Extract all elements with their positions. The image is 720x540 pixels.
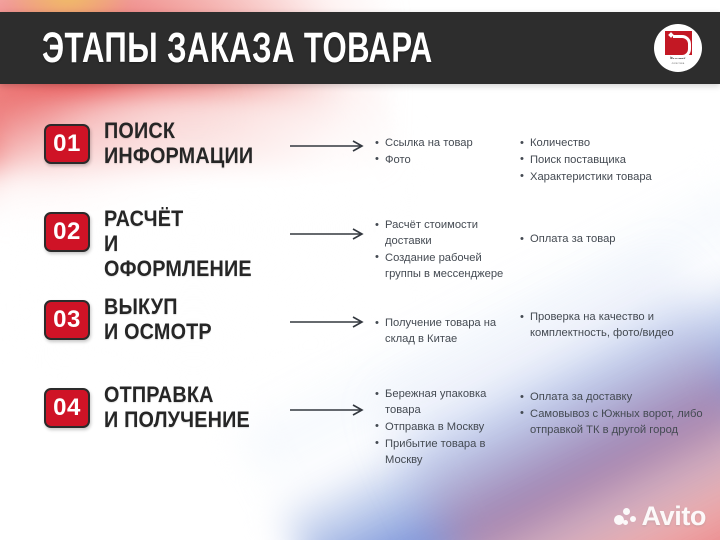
list-item: Количество bbox=[520, 136, 708, 152]
step-header: 04 ОТПРАВКА И ПОЛУЧЕНИЕ bbox=[0, 382, 280, 432]
brand-logo-icon bbox=[665, 31, 692, 55]
step-right-column: Оплата за товар bbox=[520, 206, 720, 249]
step-header: 02 РАСЧЁТ И ОФОРМЛЕНИЕ bbox=[0, 206, 280, 281]
step-row: 02 РАСЧЁТ И ОФОРМЛЕНИЕ Расчёт стоимости … bbox=[0, 206, 720, 294]
bullet-list: Бережная упаковка товара Отправка в Моск… bbox=[375, 387, 520, 469]
header-bar: ЭТАПЫ ЗАКАЗА ТОВАРА bertrade логистика bbox=[0, 12, 720, 84]
avito-dots-icon bbox=[614, 507, 637, 527]
bullet-list: Проверка на качество и комплектность, фо… bbox=[520, 310, 708, 342]
step-header: 03 ВЫКУП И ОСМОТР bbox=[0, 294, 280, 344]
bullet-list: Получение товара на склад в Китае bbox=[375, 316, 520, 348]
step-title: РАСЧЁТ И ОФОРМЛЕНИЕ bbox=[104, 206, 262, 281]
step-row: 04 ОТПРАВКА И ПОЛУЧЕНИЕ Бережная упаковк… bbox=[0, 382, 720, 470]
avito-watermark: Avito bbox=[614, 503, 707, 530]
step-connector bbox=[280, 294, 375, 328]
bullet-list: Расчёт стоимости доставки Создание рабоч… bbox=[375, 218, 520, 283]
page-title: ЭТАПЫ ЗАКАЗА ТОВАРА bbox=[42, 24, 433, 73]
step-middle-column: Получение товара на склад в Китае bbox=[375, 294, 520, 349]
steps-list: 01 ПОИСК ИНФОРМАЦИИ Ссылка на товар Фото… bbox=[0, 118, 720, 470]
arrow-right-icon bbox=[289, 228, 367, 240]
step-middle-column: Ссылка на товар Фото bbox=[375, 118, 520, 170]
arrow-right-icon bbox=[289, 404, 367, 416]
step-row: 03 ВЫКУП И ОСМОТР Получение товара на ск… bbox=[0, 294, 720, 382]
list-item: Оплата за товар bbox=[520, 232, 708, 248]
step-right-column: Проверка на качество и комплектность, фо… bbox=[520, 294, 720, 343]
step-number-badge: 04 bbox=[44, 388, 90, 428]
step-row: 01 ПОИСК ИНФОРМАЦИИ Ссылка на товар Фото… bbox=[0, 118, 720, 206]
step-right-column: Оплата за доставку Самовывоз с Южных вор… bbox=[520, 382, 720, 440]
list-item: Бережная упаковка товара bbox=[375, 387, 520, 419]
list-item: Оплата за доставку bbox=[520, 390, 708, 406]
step-header: 01 ПОИСК ИНФОРМАЦИИ bbox=[0, 118, 280, 168]
step-number-badge: 03 bbox=[44, 300, 90, 340]
step-middle-column: Расчёт стоимости доставки Создание рабоч… bbox=[375, 206, 520, 284]
list-item: Получение товара на склад в Китае bbox=[375, 316, 520, 348]
list-item: Фото bbox=[375, 153, 520, 169]
arrow-right-icon bbox=[289, 316, 367, 328]
step-number-badge: 02 bbox=[44, 212, 90, 252]
list-item: Поиск поставщика bbox=[520, 153, 708, 169]
list-item: Проверка на качество и комплектность, фо… bbox=[520, 310, 708, 342]
list-item: Ссылка на товар bbox=[375, 136, 520, 152]
step-number-badge: 01 bbox=[44, 124, 90, 164]
bullet-list: Ссылка на товар Фото bbox=[375, 136, 520, 169]
list-item: Самовывоз с Южных ворот, либо отправкой … bbox=[520, 407, 708, 439]
brand-logo-subtext: логистика bbox=[672, 62, 685, 65]
step-middle-column: Бережная упаковка товара Отправка в Моск… bbox=[375, 382, 520, 470]
arrow-right-icon bbox=[289, 140, 367, 152]
avito-wordmark: Avito bbox=[642, 503, 707, 530]
list-item: Прибытие товара в Москву bbox=[375, 437, 520, 469]
step-title: ПОИСК ИНФОРМАЦИИ bbox=[104, 118, 253, 168]
brand-logo: bertrade логистика bbox=[654, 24, 702, 72]
bullet-list: Оплата за доставку Самовывоз с Южных вор… bbox=[520, 390, 708, 439]
list-item: Расчёт стоимости доставки bbox=[375, 218, 520, 250]
step-connector bbox=[280, 206, 375, 240]
list-item: Отправка в Москву bbox=[375, 420, 520, 436]
step-connector bbox=[280, 382, 375, 416]
list-item: Характеристики товара bbox=[520, 170, 708, 186]
step-title: ОТПРАВКА И ПОЛУЧЕНИЕ bbox=[104, 382, 250, 432]
bullet-list: Оплата за товар bbox=[520, 232, 708, 248]
step-title: ВЫКУП И ОСМОТР bbox=[104, 294, 212, 344]
step-right-column: Количество Поиск поставщика Характеристи… bbox=[520, 118, 720, 187]
infographic-page: ЭТАПЫ ЗАКАЗА ТОВАРА bertrade логистика 0… bbox=[0, 0, 720, 540]
step-connector bbox=[280, 118, 375, 152]
bullet-list: Количество Поиск поставщика Характеристи… bbox=[520, 136, 708, 186]
list-item: Создание рабочей группы в мессенджере bbox=[375, 251, 520, 283]
